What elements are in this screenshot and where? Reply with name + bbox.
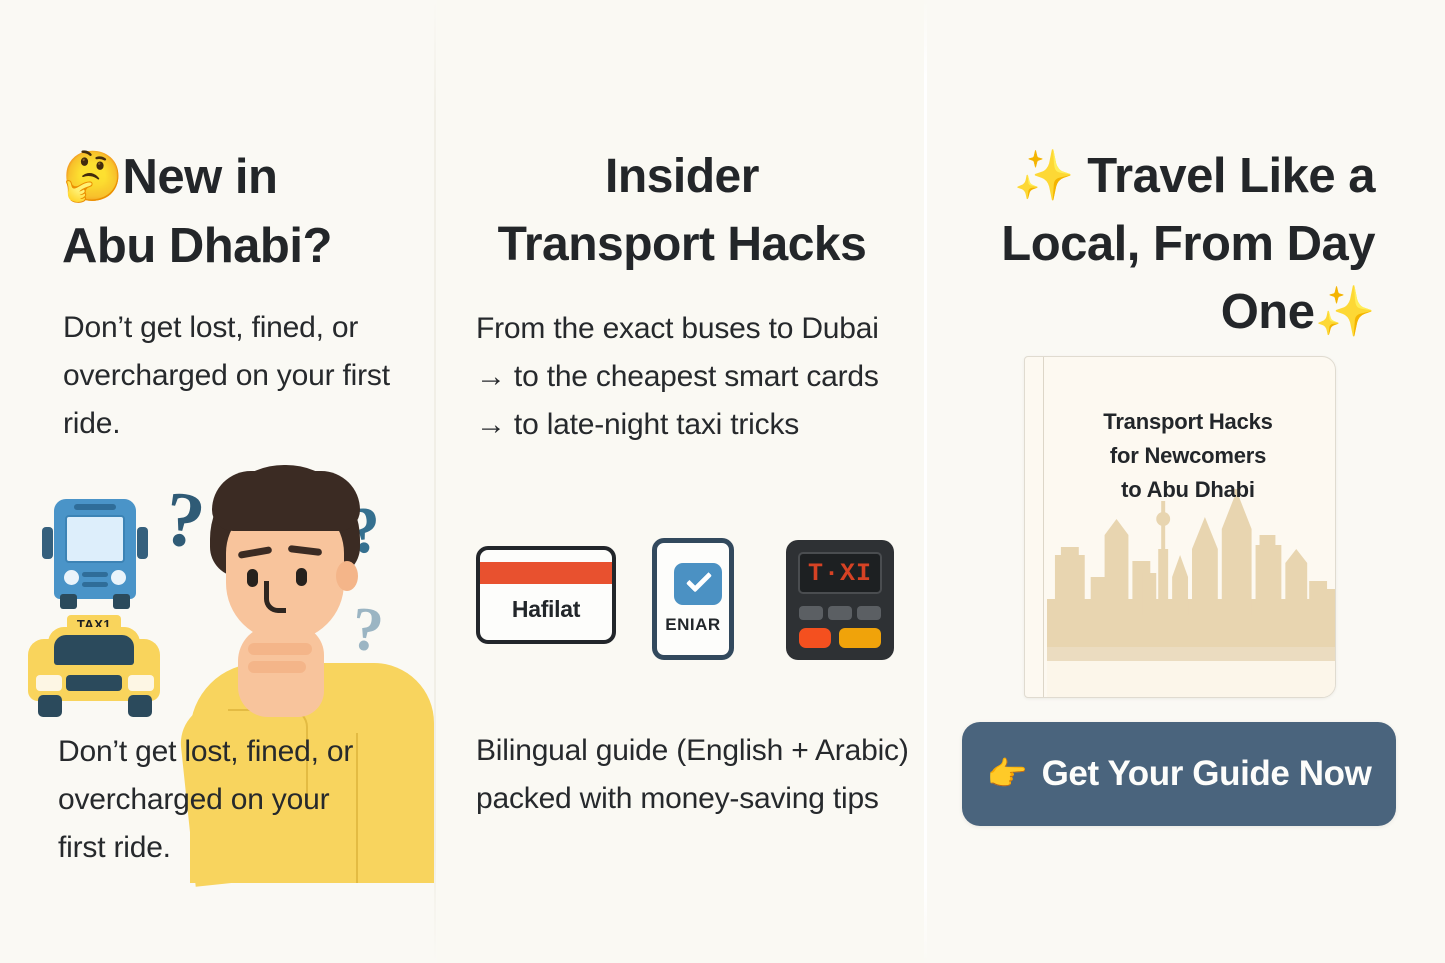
taxi-meter-icon: T·XI (786, 540, 894, 660)
column3-heading-line2: Local, From Day (1001, 217, 1375, 271)
thinking-face-emoji: 🤔 (62, 148, 123, 205)
book-title-line1: Transport Hacks (1103, 409, 1272, 434)
taxi-meter-button-2 (828, 606, 852, 620)
column1-bottom-text: Don’t get lost, fined, or overcharged on… (58, 728, 358, 872)
column-new-in-abu-dhabi: 🤔New in Abu Dhabi? Don’t get lost, fined… (0, 0, 434, 963)
cta-label: Get Your Guide Now (1042, 754, 1372, 794)
column1-heading-line1: New in (123, 150, 278, 204)
taxi-meter-display: T·XI (800, 559, 880, 588)
taxi-meter-button-1 (799, 606, 823, 620)
column1-subtext: Don’t get lost, fined, or overcharged on… (63, 304, 433, 448)
hafilat-card-icon: Hafilat (476, 546, 616, 644)
book-title: Transport Hacks for Newcomers to Abu Dha… (1061, 405, 1315, 507)
column2-heading: Insider Transport Hacks (457, 143, 907, 279)
column2-subtext: From the exact buses to Dubai → to the c… (476, 305, 901, 449)
column2-bottom-text: Bilingual guide (English + Arabic) packe… (476, 727, 916, 823)
check-icon (674, 563, 722, 605)
taxi-meter-screen: T·XI (798, 552, 882, 594)
column2-heading-line2: Transport Hacks (498, 218, 867, 271)
taxi-meter-button-3 (857, 606, 881, 620)
get-your-guide-now-button[interactable]: 👉 Get Your Guide Now (962, 722, 1396, 826)
promo-canvas: 🤔New in Abu Dhabi? Don’t get lost, fined… (0, 0, 1445, 963)
sparkles-emoji-right: ✨ (1314, 283, 1375, 340)
column2-heading-line1: Insider (605, 150, 759, 203)
column-divider-left (434, 0, 436, 963)
sparkles-emoji-left: ✨ (1014, 147, 1075, 204)
book-title-line2: for Newcomers (1110, 443, 1266, 468)
guide-book-cover: Transport Hacks for Newcomers to Abu Dha… (1024, 356, 1336, 698)
taxi-meter-start-button (839, 628, 881, 648)
column3-heading-line3: One (1221, 285, 1315, 339)
eniar-app-label: ENIAR (657, 615, 729, 635)
column1-heading: 🤔New in Abu Dhabi? (62, 142, 422, 281)
column3-heading-line1: Travel Like a (1087, 149, 1375, 203)
column3-heading: ✨ Travel Like a Local, From Day One✨ (955, 142, 1375, 346)
hafilat-card-label: Hafilat (480, 596, 612, 623)
column1-heading-line2: Abu Dhabi? (62, 219, 332, 273)
taxi-meter-stop-button (799, 628, 831, 648)
book-title-line3: to Abu Dhabi (1121, 477, 1255, 502)
column2-icon-row: Hafilat ENIAR T·XI (476, 538, 906, 668)
taxi-icon: TAX1 (20, 615, 170, 725)
book-spine-line (1043, 357, 1044, 697)
hafilat-stripe (480, 562, 612, 584)
bus-icon (40, 493, 150, 611)
pointing-right-emoji: 👉 (987, 754, 1028, 794)
abu-dhabi-skyline-artwork (1047, 489, 1335, 649)
eniar-phone-app-icon: ENIAR (652, 538, 734, 660)
